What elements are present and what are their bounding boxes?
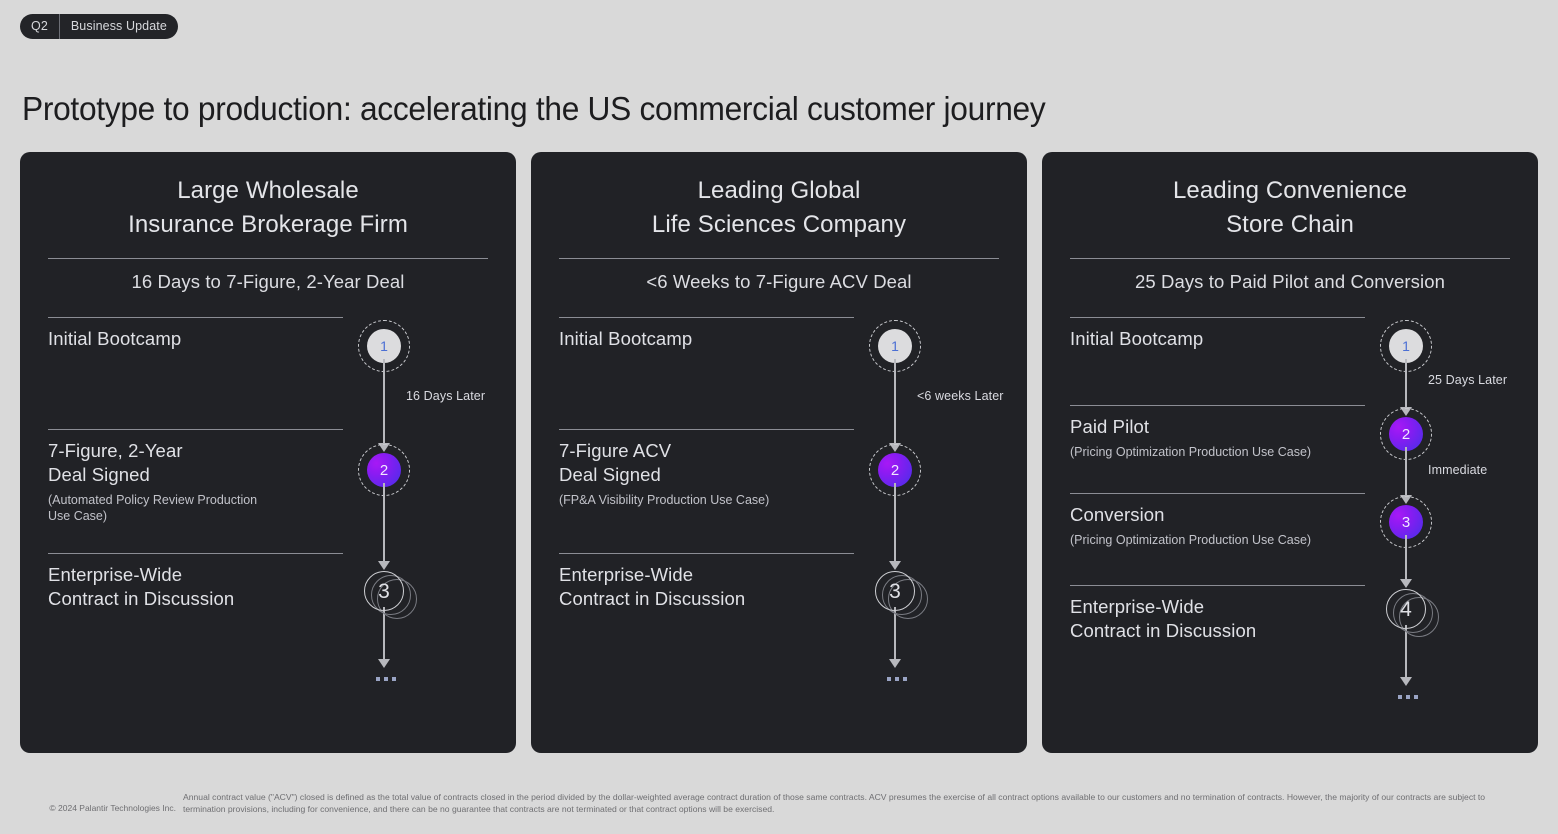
timeline: Initial BootcampPaid Pilot(Pricing Optim… <box>1070 317 1510 737</box>
card-title: Large Wholesale Insurance Brokerage Firm <box>48 174 488 242</box>
timeline-connector <box>383 483 384 561</box>
timeline-node: 3 <box>875 571 915 611</box>
step-note: (Pricing Optimization Production Use Cas… <box>1070 532 1365 548</box>
connector-label: Immediate <box>1428 463 1487 477</box>
timeline-step: Enterprise-Wide Contract in Discussion <box>48 553 343 611</box>
arrow-down-icon <box>889 443 901 452</box>
timeline-connector <box>383 607 384 659</box>
connector-label: 25 Days Later <box>1428 373 1507 387</box>
card-title: Leading Convenience Store Chain <box>1070 174 1510 242</box>
timeline-connector <box>894 359 895 443</box>
node-stack-circle <box>888 579 928 619</box>
arrow-down-icon <box>889 561 901 570</box>
arrow-down-icon <box>378 561 390 570</box>
node-dashed-ring <box>358 444 410 496</box>
timeline-node: 1 <box>367 329 401 363</box>
node-stack-circle <box>377 579 417 619</box>
timeline-node-column: 123<6 weeks Later <box>559 317 999 737</box>
ellipsis-icon <box>376 677 396 681</box>
step-note: (Pricing Optimization Production Use Cas… <box>1070 444 1365 460</box>
step-title: Conversion <box>1070 503 1365 527</box>
timeline-step: Initial Bootcamp <box>1070 317 1365 351</box>
page-title: Prototype to production: accelerating th… <box>22 90 1045 128</box>
card-subtitle: <6 Weeks to 7-Figure ACV Deal <box>559 259 999 295</box>
case-study-card: Leading Convenience Store Chain25 Days t… <box>1042 152 1538 753</box>
connector-label: 16 Days Later <box>406 389 485 403</box>
step-title: 7-Figure, 2-Year Deal Signed <box>48 439 343 487</box>
card-title: Leading Global Life Sciences Company <box>559 174 999 242</box>
node-stack-circle <box>1393 593 1433 633</box>
step-note: (FP&A Visibility Production Use Case) <box>559 492 854 508</box>
timeline-node-column: 12316 Days Later <box>48 317 488 737</box>
disclaimer-text: Annual contract value ("ACV") closed is … <box>176 792 1558 815</box>
ellipsis-icon <box>1398 695 1418 699</box>
timeline-node: 2 <box>878 453 912 487</box>
badge-title-label: Business Update <box>60 14 178 39</box>
step-title: Initial Bootcamp <box>48 327 343 351</box>
timeline-connector <box>894 607 895 659</box>
timeline: Initial Bootcamp7-Figure, 2-Year Deal Si… <box>48 317 488 737</box>
node-stack-circle <box>371 575 411 615</box>
node-dashed-ring <box>358 320 410 372</box>
step-title: Enterprise-Wide Contract in Discussion <box>559 563 854 611</box>
timeline-connector <box>1405 535 1406 579</box>
timeline-connector <box>894 483 895 561</box>
node-dashed-ring <box>869 320 921 372</box>
step-title: Enterprise-Wide Contract in Discussion <box>48 563 343 611</box>
timeline-node: 1 <box>878 329 912 363</box>
case-study-card-row: Large Wholesale Insurance Brokerage Firm… <box>20 152 1538 753</box>
arrow-down-icon <box>378 659 390 668</box>
timeline-node: 4 <box>1386 589 1426 629</box>
timeline: Initial Bootcamp7-Figure ACV Deal Signed… <box>559 317 999 737</box>
timeline-step: 7-Figure ACV Deal Signed(FP&A Visibility… <box>559 429 854 508</box>
case-study-card: Leading Global Life Sciences Company<6 W… <box>531 152 1027 753</box>
arrow-down-icon <box>1400 677 1412 686</box>
timeline-node: 1 <box>1389 329 1423 363</box>
timeline-step: Initial Bootcamp <box>559 317 854 351</box>
timeline-step: Paid Pilot(Pricing Optimization Producti… <box>1070 405 1365 460</box>
node-stack-circle <box>1399 597 1439 637</box>
ellipsis-icon <box>887 677 907 681</box>
step-title: Paid Pilot <box>1070 415 1365 439</box>
case-study-card: Large Wholesale Insurance Brokerage Firm… <box>20 152 516 753</box>
timeline-connector <box>1405 625 1406 677</box>
arrow-down-icon <box>889 659 901 668</box>
connector-label: <6 weeks Later <box>917 389 1004 403</box>
timeline-node: 3 <box>1389 505 1423 539</box>
quarter-badge: Q2 Business Update <box>20 14 178 39</box>
step-title: 7-Figure ACV Deal Signed <box>559 439 854 487</box>
timeline-connector <box>1405 359 1406 407</box>
card-subtitle: 16 Days to 7-Figure, 2-Year Deal <box>48 259 488 295</box>
arrow-down-icon <box>1400 495 1412 504</box>
copyright-text: © 2024 Palantir Technologies Inc. <box>0 792 176 813</box>
timeline-step: Enterprise-Wide Contract in Discussion <box>559 553 854 611</box>
node-stack-circle <box>882 575 922 615</box>
step-note: (Automated Policy Review Production Use … <box>48 492 343 524</box>
page-footer: © 2024 Palantir Technologies Inc. Annual… <box>0 782 1558 834</box>
timeline-node: 3 <box>364 571 404 611</box>
timeline-connector <box>1405 447 1406 495</box>
step-title: Initial Bootcamp <box>559 327 854 351</box>
timeline-node: 2 <box>367 453 401 487</box>
arrow-down-icon <box>1400 407 1412 416</box>
step-title: Initial Bootcamp <box>1070 327 1365 351</box>
timeline-node: 2 <box>1389 417 1423 451</box>
arrow-down-icon <box>1400 579 1412 588</box>
node-dashed-ring <box>1380 408 1432 460</box>
node-dashed-ring <box>869 444 921 496</box>
timeline-connector <box>383 359 384 443</box>
timeline-step: Initial Bootcamp <box>48 317 343 351</box>
timeline-step: Conversion(Pricing Optimization Producti… <box>1070 493 1365 548</box>
node-dashed-ring <box>1380 320 1432 372</box>
badge-quarter-label: Q2 <box>20 14 59 39</box>
timeline-step: Enterprise-Wide Contract in Discussion <box>1070 585 1365 643</box>
arrow-down-icon <box>378 443 390 452</box>
step-title: Enterprise-Wide Contract in Discussion <box>1070 595 1365 643</box>
timeline-step: 7-Figure, 2-Year Deal Signed(Automated P… <box>48 429 343 524</box>
node-dashed-ring <box>1380 496 1432 548</box>
card-subtitle: 25 Days to Paid Pilot and Conversion <box>1070 259 1510 295</box>
